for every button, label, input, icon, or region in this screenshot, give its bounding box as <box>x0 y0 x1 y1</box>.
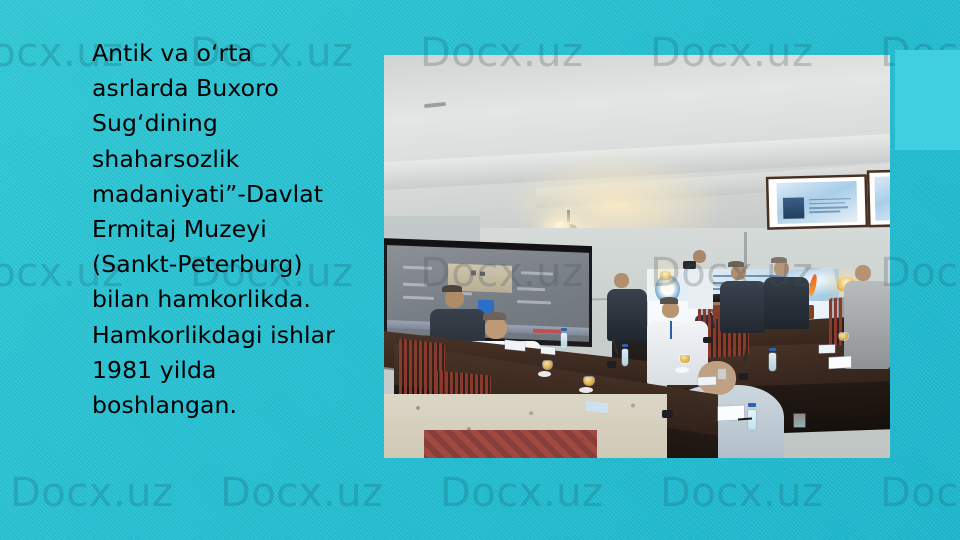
tea-cup <box>680 355 690 363</box>
participant-body <box>764 277 810 329</box>
participant-hair <box>483 312 506 320</box>
water-bottle <box>769 353 776 371</box>
microphone-base <box>607 361 616 368</box>
screen-person <box>471 271 476 276</box>
participant-body <box>720 281 766 333</box>
document-paper <box>819 345 835 354</box>
participant-hair <box>442 285 462 292</box>
lanyard <box>670 321 672 339</box>
participant-head <box>855 265 871 281</box>
frame-text-line <box>809 210 840 212</box>
floor-rug <box>424 430 596 458</box>
watermark-text: Docx.uz <box>220 470 384 516</box>
water-bottle <box>561 333 567 349</box>
screen-text-line <box>516 288 544 292</box>
slide-text-block: Antik va o‘rta asrlarda Buxoro Sug‘dinin… <box>92 36 387 423</box>
frame-text-line <box>809 202 845 204</box>
water-bottle <box>622 349 628 366</box>
screen-text-line <box>403 296 433 300</box>
name-tent-card <box>829 357 851 369</box>
frame-text-line <box>808 198 850 201</box>
bottle-cap <box>769 348 776 351</box>
slide-canvas: Docx.uzDocx.uzDocx.uzDocx.uzDocx.uzDocx.… <box>0 0 960 540</box>
participant-hair <box>771 257 787 263</box>
bottle-cap <box>622 344 628 347</box>
framed-certificate <box>768 177 865 228</box>
bottle-cap <box>561 328 567 331</box>
participant-hair <box>660 297 678 304</box>
watermark-text: Docx.uz <box>880 250 960 296</box>
watermark-text: Docx.uz <box>660 470 824 516</box>
conference-photo: Docx.uzDocx.uzDocx.uzDocx.uzDocx.uzDocx.… <box>384 55 890 458</box>
screen-text-line <box>520 272 552 276</box>
watermark-text: Docx.uz <box>440 470 604 516</box>
photographer-body <box>688 269 713 309</box>
frame-content <box>874 175 890 220</box>
screen-person <box>480 272 485 277</box>
screen-text-line <box>403 265 431 269</box>
framed-certificate <box>869 171 890 225</box>
document-paper <box>698 377 716 386</box>
accent-rectangle <box>895 50 960 150</box>
frame-portrait <box>783 198 805 220</box>
screen-text-line <box>516 300 550 304</box>
microphone-base <box>662 410 673 418</box>
microphone-base <box>738 373 748 380</box>
drinking-glass <box>794 414 805 427</box>
ceiling-light-glow <box>505 152 728 241</box>
watermark-text: Docx.uz <box>10 470 174 516</box>
frame-content <box>776 181 858 224</box>
participant-body <box>607 289 647 341</box>
participant-hair <box>728 261 744 267</box>
participant-head <box>485 317 507 339</box>
microphone-base <box>703 337 712 343</box>
slide-body-text: Antik va o‘rta asrlarda Buxoro Sug‘dinin… <box>92 36 387 423</box>
participant-body <box>844 281 890 370</box>
watermark-text: Docx.uz <box>880 470 960 516</box>
chandelier-stem <box>567 210 570 222</box>
camera-icon <box>683 261 696 269</box>
wall-sconce <box>660 271 671 280</box>
screen-text-line <box>403 283 427 287</box>
participant-head <box>614 273 629 288</box>
bottle-cap <box>748 403 756 407</box>
frame-text-line <box>809 206 848 209</box>
drinking-glass <box>718 369 726 379</box>
